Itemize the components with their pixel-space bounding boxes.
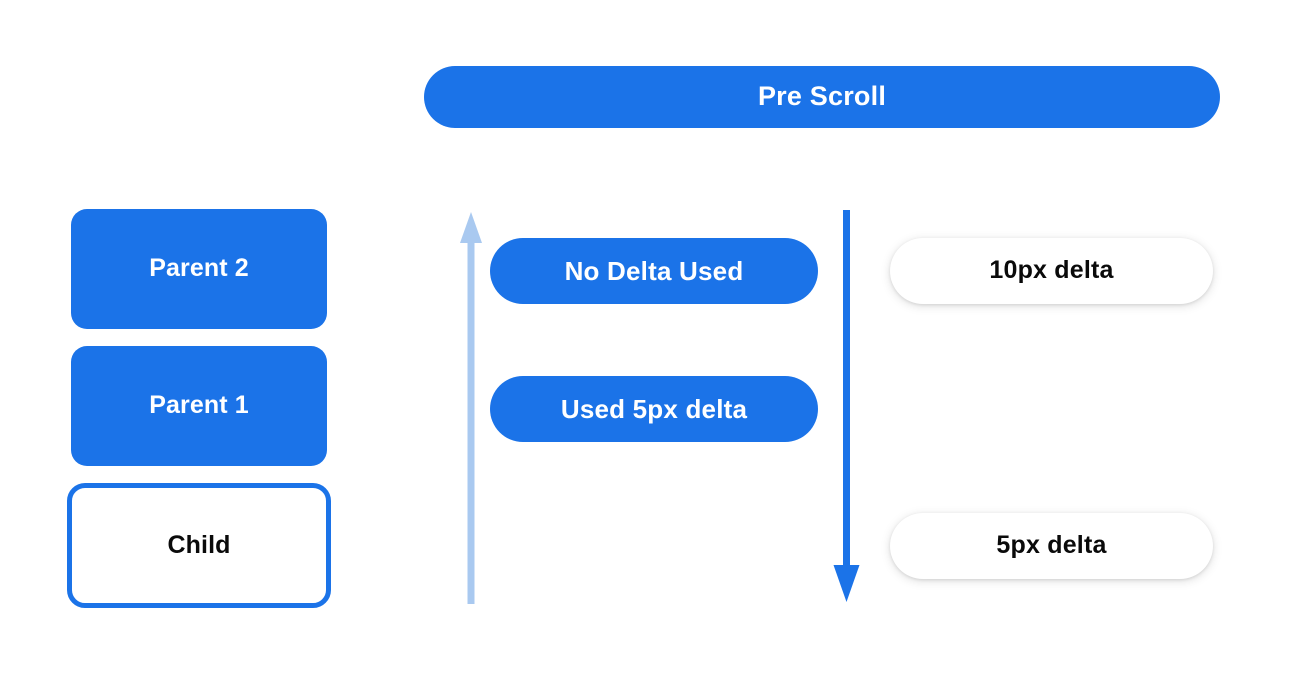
hierarchy-node-parent-2: Parent 2 — [71, 209, 327, 329]
hierarchy-node-parent-1-label: Parent 1 — [149, 392, 248, 420]
consumption-pill-used-5px-delta-label: Used 5px delta — [561, 395, 747, 424]
hierarchy-node-child-label: Child — [168, 532, 231, 560]
delta-pill-5px-label: 5px delta — [996, 532, 1106, 560]
hierarchy-node-child: Child — [67, 483, 331, 608]
pre-scroll-header-label: Pre Scroll — [758, 82, 886, 112]
delta-pill-5px: 5px delta — [890, 513, 1213, 579]
consumption-pill-no-delta-used: No Delta Used — [490, 238, 818, 304]
hierarchy-node-parent-1: Parent 1 — [71, 346, 327, 466]
dispatch-down-arrow — [832, 210, 862, 604]
consumption-pill-no-delta-used-label: No Delta Used — [565, 257, 744, 286]
delta-pill-10px-label: 10px delta — [989, 257, 1113, 285]
hierarchy-node-parent-2-label: Parent 2 — [149, 255, 248, 283]
pre-scroll-header-pill: Pre Scroll — [424, 66, 1220, 128]
diagram-canvas: Pre Scroll Parent 2 Parent 1 Child No De… — [0, 0, 1312, 680]
consumption-pill-used-5px-delta: Used 5px delta — [490, 376, 818, 442]
delta-pill-10px: 10px delta — [890, 238, 1213, 304]
dispatch-up-arrow — [458, 210, 484, 604]
